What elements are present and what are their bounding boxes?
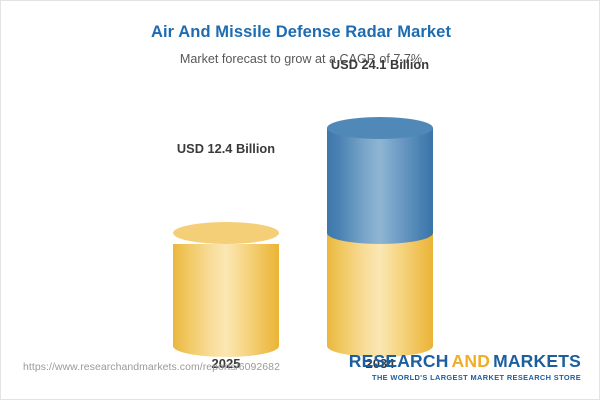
footer: https://www.researchandmarkets.com/repor… [1, 345, 600, 399]
bar-body-2025 [173, 244, 279, 346]
research-and-markets-logo[interactable]: RESEARCHANDMARKETS THE WORLD'S LARGEST M… [349, 351, 581, 382]
value-label-2025: USD 12.4 Billion [116, 141, 336, 156]
bar-body-base-2034 [327, 233, 433, 346]
page-title: Air And Missile Defense Radar Market [1, 22, 600, 42]
chart-plot-area: USD 12.4 Billion 2025 USD 24.1 Billion [1, 81, 600, 346]
bar-body-growth-2034 [327, 128, 433, 233]
bar-segment-growth-2034[interactable] [327, 128, 433, 233]
logo-tagline: THE WORLD'S LARGEST MARKET RESEARCH STOR… [349, 373, 581, 382]
bar-top-ellipse-2034 [327, 117, 433, 139]
value-label-2034: USD 24.1 Billion [270, 57, 490, 72]
logo-word-markets: MARKETS [493, 351, 581, 371]
infographic-card: Air And Missile Defense Radar Market Mar… [0, 0, 600, 400]
logo-wordmark: RESEARCHANDMARKETS [349, 351, 581, 371]
bar-segment-base-2034[interactable] [327, 233, 433, 346]
logo-word-research: RESEARCH [349, 351, 449, 371]
logo-word-and: AND [452, 351, 491, 371]
bar-group-2034: USD 24.1 Billion 2034 [327, 118, 433, 346]
bar-cylinder-2025[interactable] [173, 233, 279, 346]
bar-top-ellipse-2025 [173, 222, 279, 244]
report-url-link[interactable]: https://www.researchandmarkets.com/repor… [23, 361, 280, 373]
bar-group-2025: USD 12.4 Billion 2025 [173, 118, 279, 346]
